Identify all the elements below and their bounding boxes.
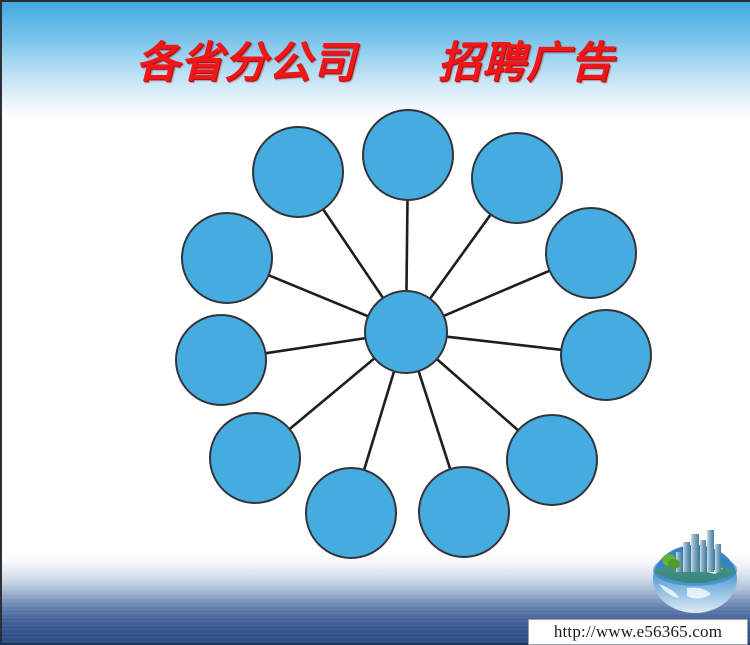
branch-node[interactable] — [472, 133, 562, 223]
spoke-line — [406, 199, 407, 292]
spoke-line — [265, 338, 367, 353]
nodes-group — [176, 110, 651, 558]
globe-city-logo — [645, 524, 745, 616]
branch-node[interactable] — [253, 127, 343, 217]
branch-node[interactable] — [546, 208, 636, 298]
watermark-box: http://www.e56365.com — [528, 619, 748, 645]
branch-node[interactable] — [363, 110, 453, 200]
branch-node[interactable] — [306, 468, 396, 558]
spoke-line — [268, 275, 369, 317]
hub-node[interactable] — [365, 291, 447, 373]
slide-canvas: 各省分公司 招聘广告 — [0, 0, 750, 645]
watermark-url: http://www.e56365.com — [554, 622, 722, 642]
branch-node[interactable] — [507, 415, 597, 505]
branch-node[interactable] — [561, 310, 651, 400]
spoke-line — [323, 208, 384, 298]
branch-node[interactable] — [419, 467, 509, 557]
spoke-line — [289, 358, 376, 430]
hub-and-spoke-diagram — [0, 0, 750, 645]
tree-icon — [668, 559, 680, 569]
spoke-line — [443, 270, 551, 316]
spoke-line — [364, 370, 395, 471]
branch-node[interactable] — [210, 413, 300, 503]
branch-node[interactable] — [182, 213, 272, 303]
spoke-line — [429, 214, 491, 300]
branch-node[interactable] — [176, 315, 266, 405]
spoke-line — [418, 370, 450, 470]
spoke-line — [436, 358, 519, 431]
spoke-line — [446, 337, 563, 350]
